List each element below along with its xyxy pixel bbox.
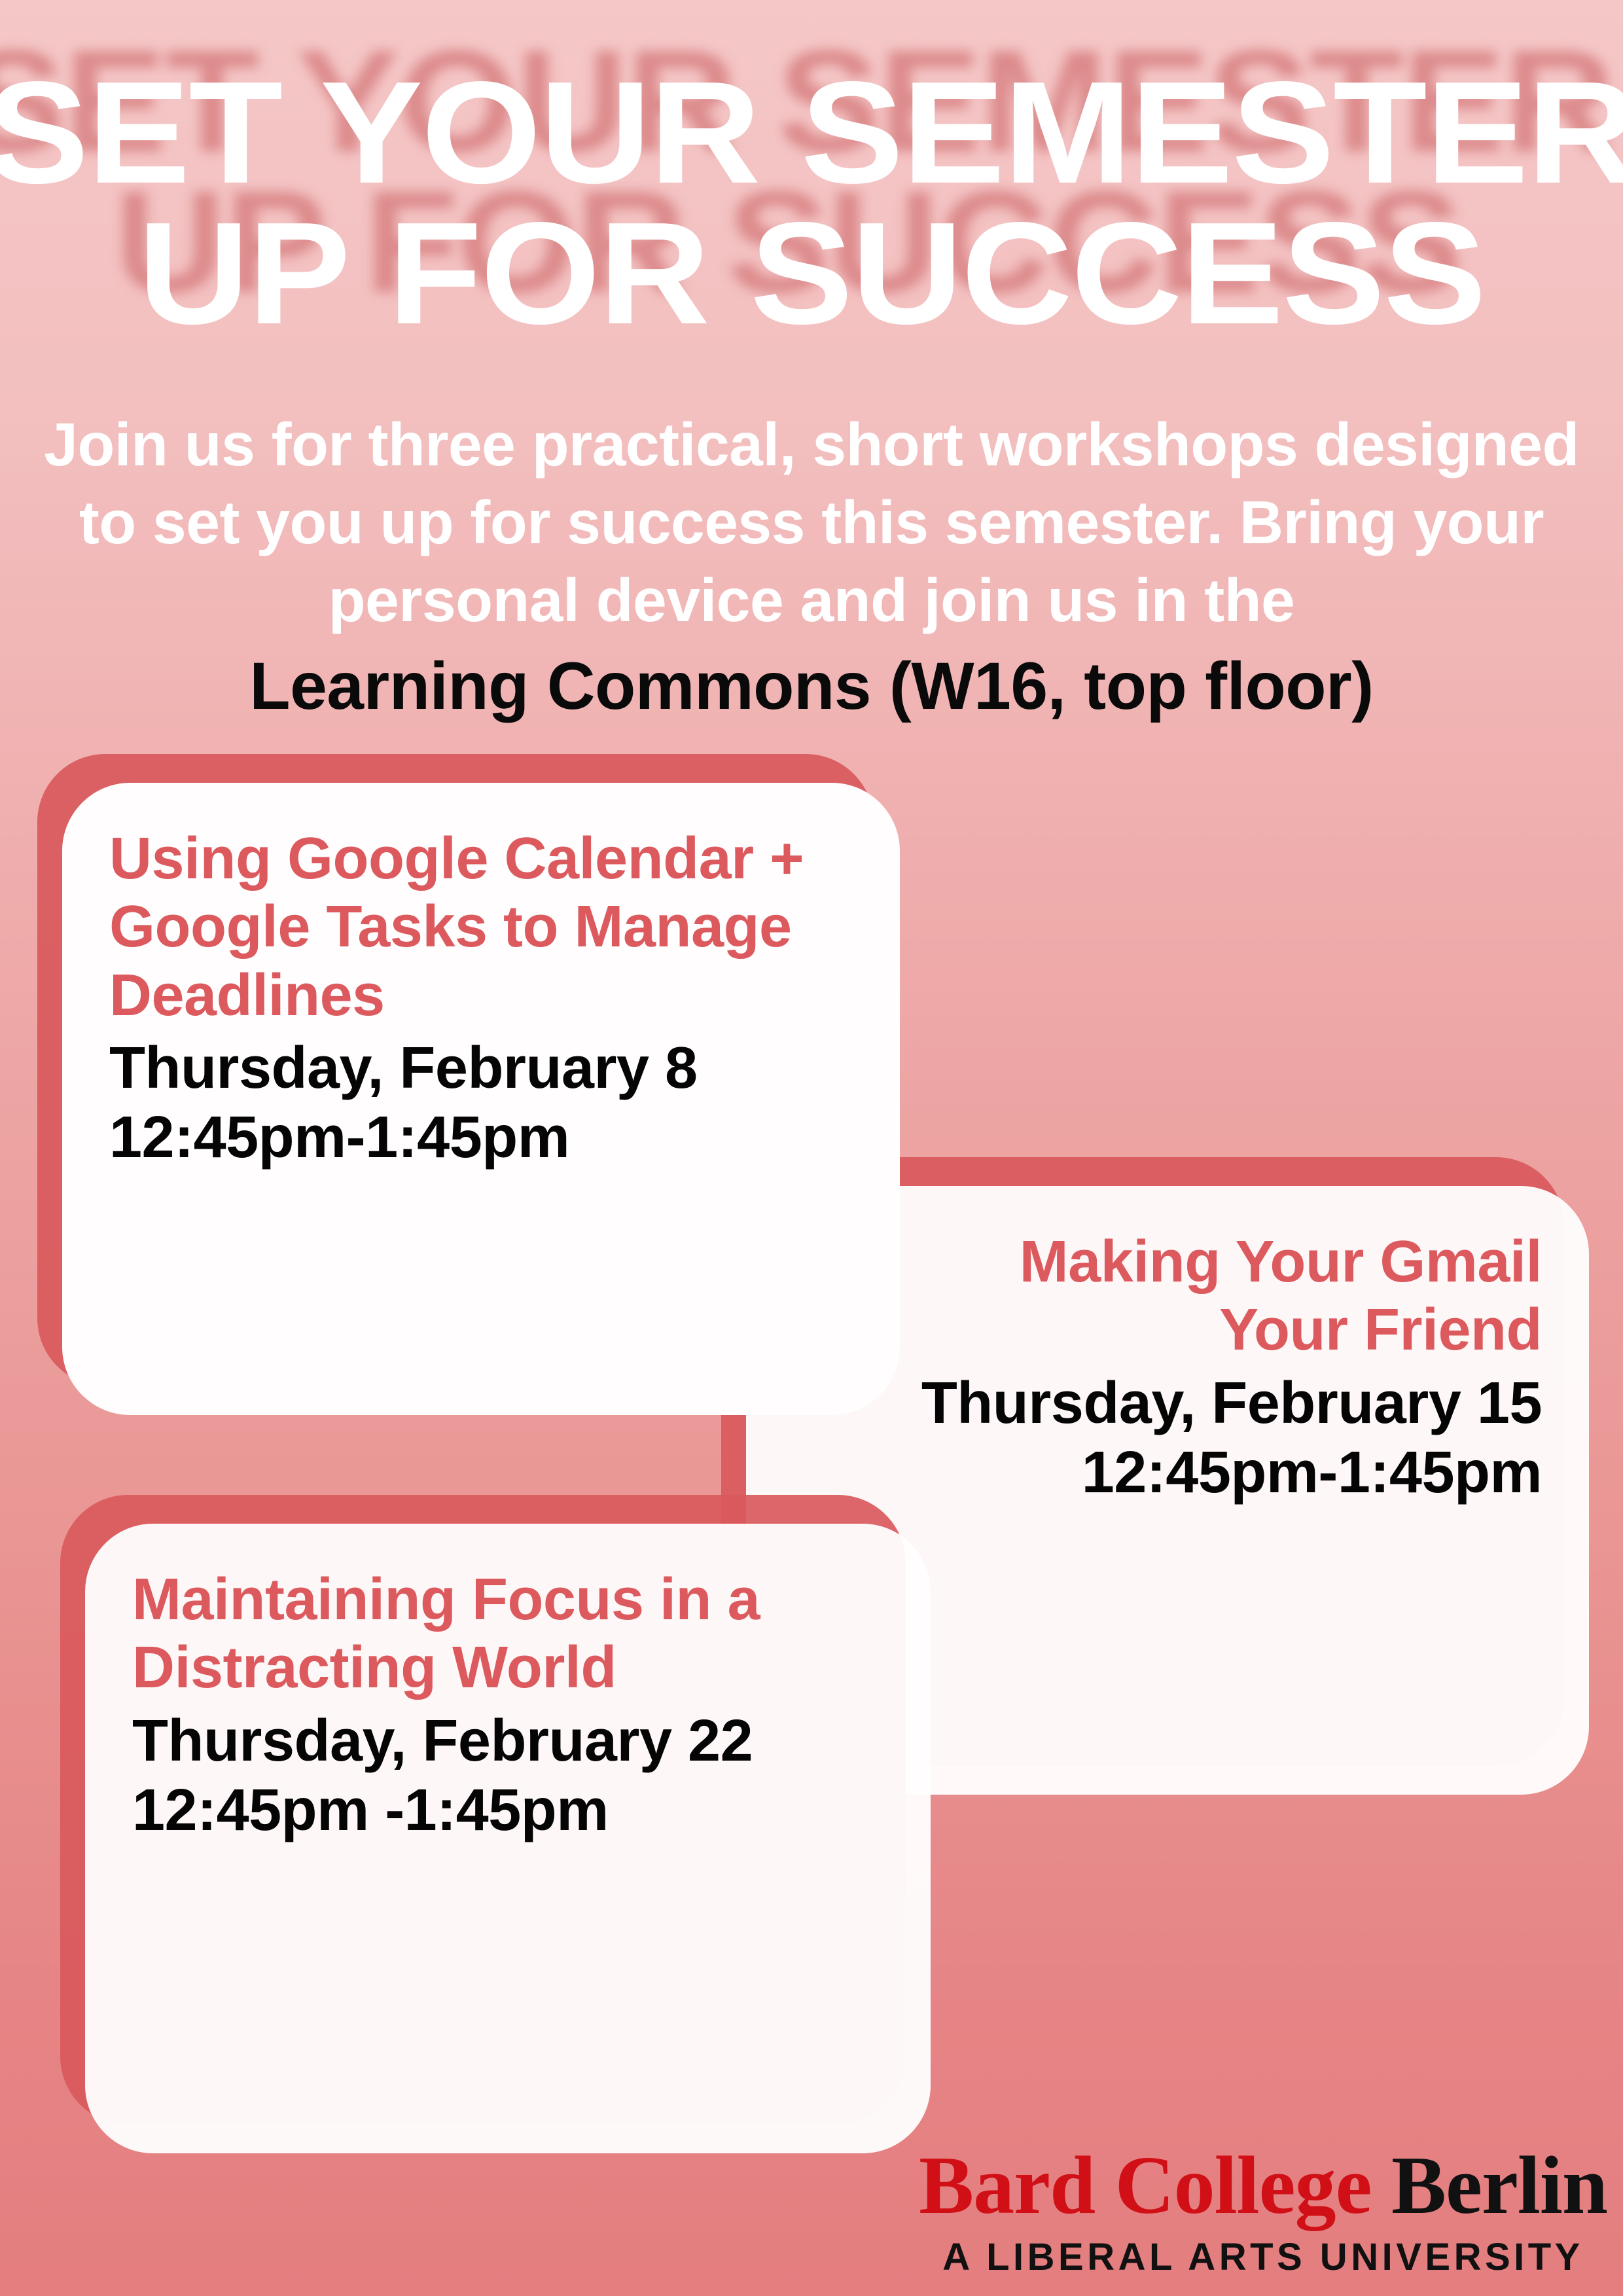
bard-college-berlin-logo: Bard College Berlin A LIBERAL ARTS UNIVE…: [919, 2145, 1607, 2279]
workshop-1-title-line-3: Deadlines: [109, 963, 385, 1028]
workshop-1-title-line-2: Google Tasks to Manage: [109, 894, 792, 960]
workshop-2-title-line-1: Making Your Gmail: [1020, 1229, 1542, 1295]
workshop-card-3: Maintaining Focus in a Distracting World…: [60, 1495, 940, 2162]
workshop-1-title-line-1: Using Google Calendar +: [109, 826, 804, 891]
workshop-card-3-title: Maintaining Focus in a Distracting World: [132, 1566, 883, 1702]
workshop-card-3-body: Maintaining Focus in a Distracting World…: [85, 1524, 931, 2153]
poster-canvas: SET YOUR SEMESTER SET YOUR SEMESTER UP F…: [0, 0, 1623, 2296]
logo-tagline: A LIBERAL ARTS UNIVERSITY: [919, 2235, 1607, 2279]
workshop-card-1-title: Using Google Calendar + Google Tasks to …: [109, 825, 853, 1030]
workshop-1-time: 12:45pm-1:45pm: [109, 1103, 853, 1172]
workshop-card-1-body: Using Google Calendar + Google Tasks to …: [62, 783, 900, 1415]
workshop-3-date: Thursday, February 22: [132, 1706, 883, 1776]
workshop-2-title-line-2: Your Friend: [1219, 1297, 1542, 1363]
workshop-1-date: Thursday, February 8: [109, 1033, 853, 1103]
workshop-card-1: Using Google Calendar + Google Tasks to …: [37, 754, 908, 1422]
logo-wordmark: Bard College Berlin: [919, 2145, 1607, 2227]
workshop-3-time: 12:45pm -1:45pm: [132, 1776, 883, 1845]
logo-bard-college: Bard College: [919, 2140, 1371, 2231]
intro-paragraph: Join us for three practical, short works…: [0, 406, 1623, 639]
intro-line-2: to set you up for success this semester.…: [0, 484, 1623, 562]
title-line-2: UP FOR SUCCESS UP FOR SUCCESS: [0, 204, 1623, 344]
poster-title: SET YOUR SEMESTER SET YOUR SEMESTER UP F…: [0, 63, 1623, 345]
intro-line-1: Join us for three practical, short works…: [0, 406, 1623, 484]
workshop-3-title-line-2: Distracting World: [132, 1635, 616, 1700]
intro-line-3: personal device and join us in the: [0, 562, 1623, 639]
logo-berlin: Berlin: [1391, 2140, 1607, 2231]
title-line-2-text: UP FOR SUCCESS: [138, 192, 1485, 355]
workshop-3-title-line-1: Maintaining Focus in a: [132, 1567, 760, 1632]
venue-label: Learning Commons (W16, top floor): [0, 648, 1623, 725]
